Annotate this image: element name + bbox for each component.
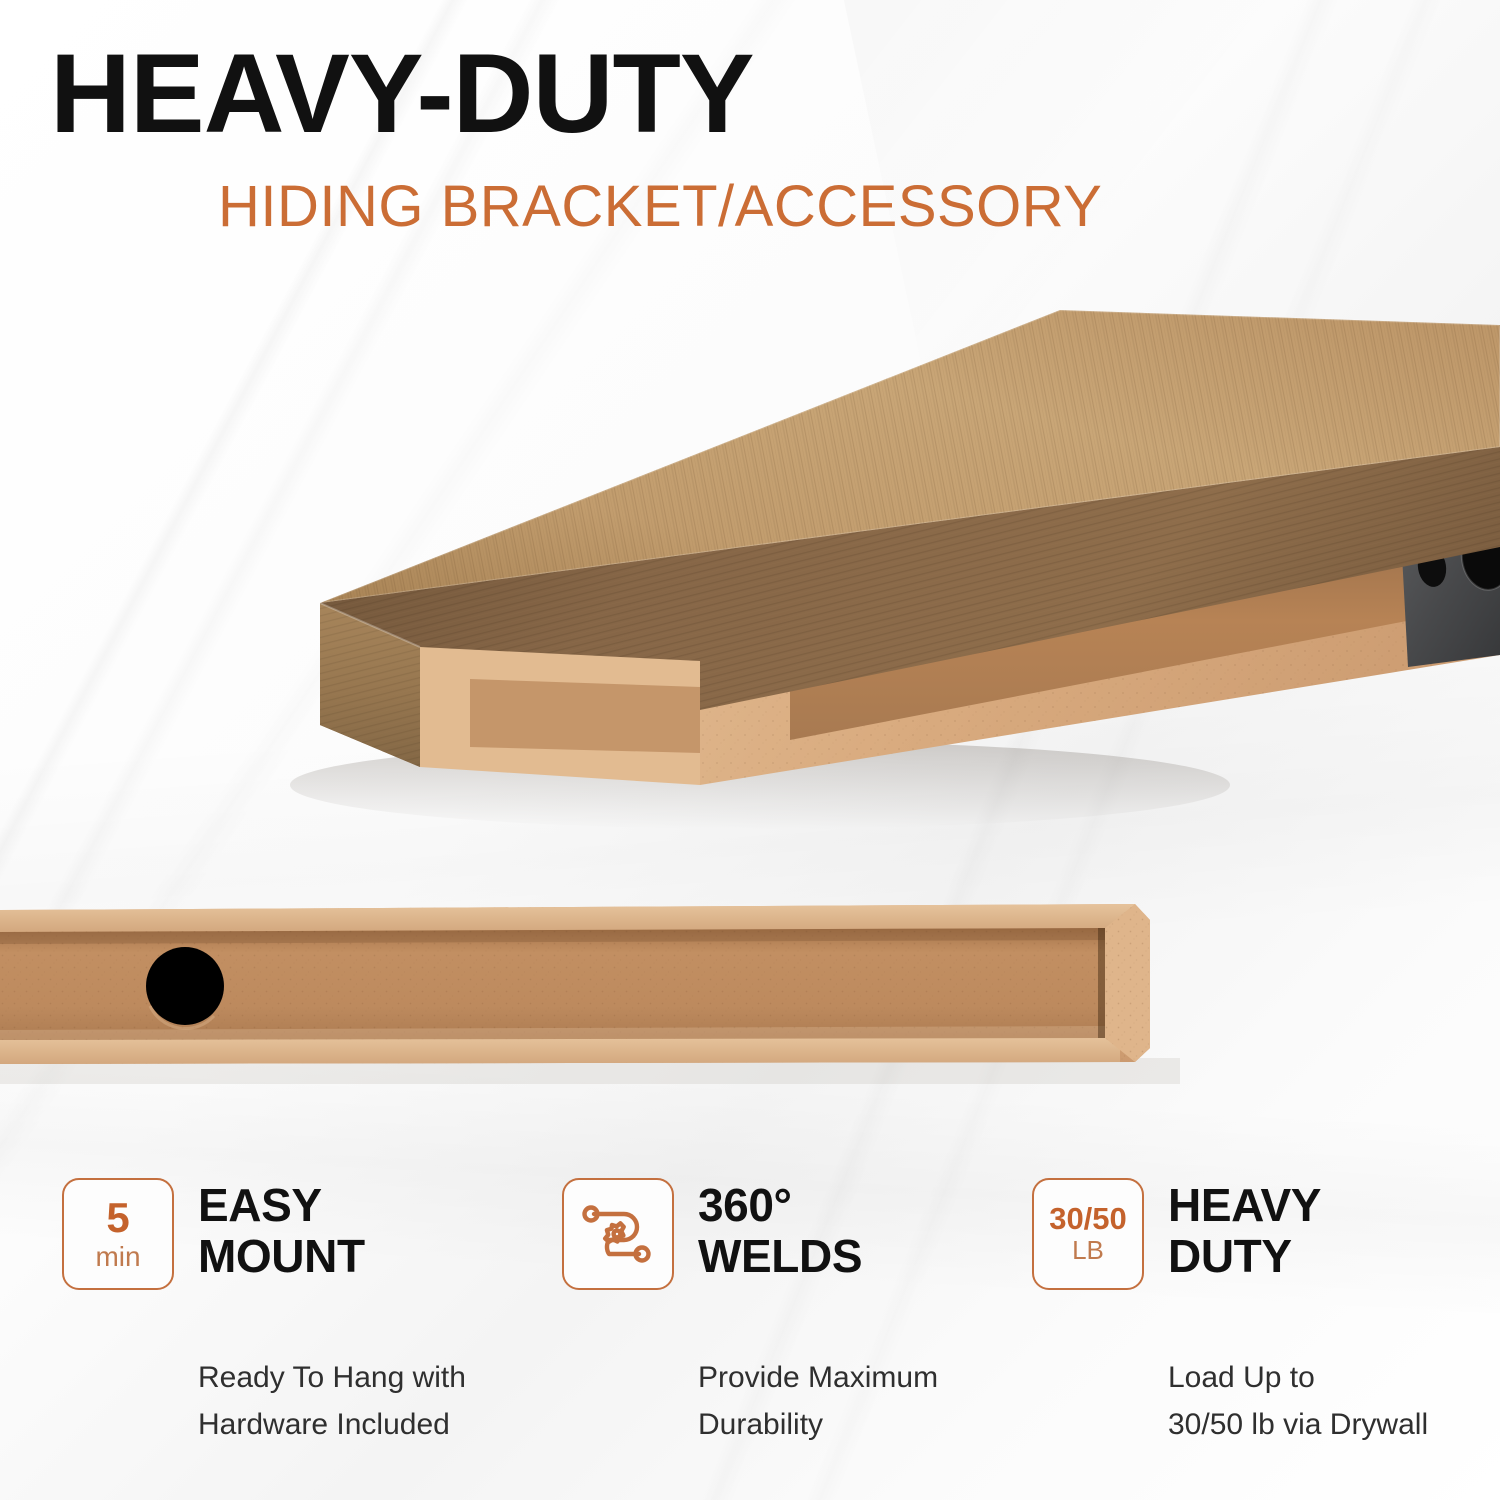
hero-product-image [0,255,1500,875]
feature-title: EASY MOUNT [198,1178,365,1281]
badge-value: 5 [106,1197,129,1239]
feature-description: Provide Maximum Durability [698,1354,1032,1449]
feature-desc-line1: Ready To Hang with [198,1354,532,1401]
feature-highlights-row: 5 min EASY MOUNT Ready To Hang with Hard… [0,1178,1500,1478]
feature-description: Ready To Hang with Hardware Included [198,1354,532,1449]
feature-360-welds: 360° WELDS Provide Maximum Durability [562,1178,1032,1449]
section-bottom-rim [0,1036,1120,1064]
bracket-mounting-hole [146,947,224,1025]
channel-cross-section-image [0,880,1500,1110]
feature-title-line1: 360° [698,1180,862,1231]
feature-title-line2: WELDS [698,1231,862,1282]
badge-value: 30/50 [1049,1203,1127,1234]
badge-unit: min [95,1242,140,1271]
feature-header: 30/50 LB HEAVY DUTY [1032,1178,1500,1298]
feature-title-line1: HEAVY [1168,1180,1321,1231]
minutes-badge-icon: 5 min [62,1178,174,1290]
feature-desc-line1: Provide Maximum [698,1354,1032,1401]
feature-header: 360° WELDS [562,1178,1032,1298]
feature-easy-mount: 5 min EASY MOUNT Ready To Hang with Hard… [62,1178,532,1449]
page-subheadline: HIDING BRACKET/ACCESSORY [218,178,1102,236]
weld-path-gear-icon [562,1178,674,1290]
feature-desc-line2: Hardware Included [198,1401,532,1448]
feature-description: Load Up to 30/50 lb via Drywall [1168,1354,1500,1449]
section-top-rim [0,904,1135,932]
feature-title-line1: EASY [198,1180,365,1231]
feature-header: 5 min EASY MOUNT [62,1178,532,1298]
feature-desc-line2: 30/50 lb via Drywall [1168,1401,1500,1448]
feature-title-line2: MOUNT [198,1231,365,1282]
shelf-left-channel-hint [470,679,700,753]
feature-desc-line1: Load Up to [1168,1354,1500,1401]
feature-heavy-duty: 30/50 LB HEAVY DUTY Load Up to 30/50 lb … [1032,1178,1500,1449]
feature-title: 360° WELDS [698,1178,862,1281]
feature-desc-line2: Durability [698,1401,1032,1448]
page-headline: HEAVY-DUTY [50,38,754,150]
feature-title: HEAVY DUTY [1168,1178,1321,1281]
feature-title-line2: DUTY [1168,1231,1321,1282]
weight-rating-badge-icon: 30/50 LB [1032,1178,1144,1290]
badge-unit: LB [1072,1237,1104,1264]
product-marketing-image: HEAVY-DUTY HIDING BRACKET/ACCESSORY [0,0,1500,1500]
